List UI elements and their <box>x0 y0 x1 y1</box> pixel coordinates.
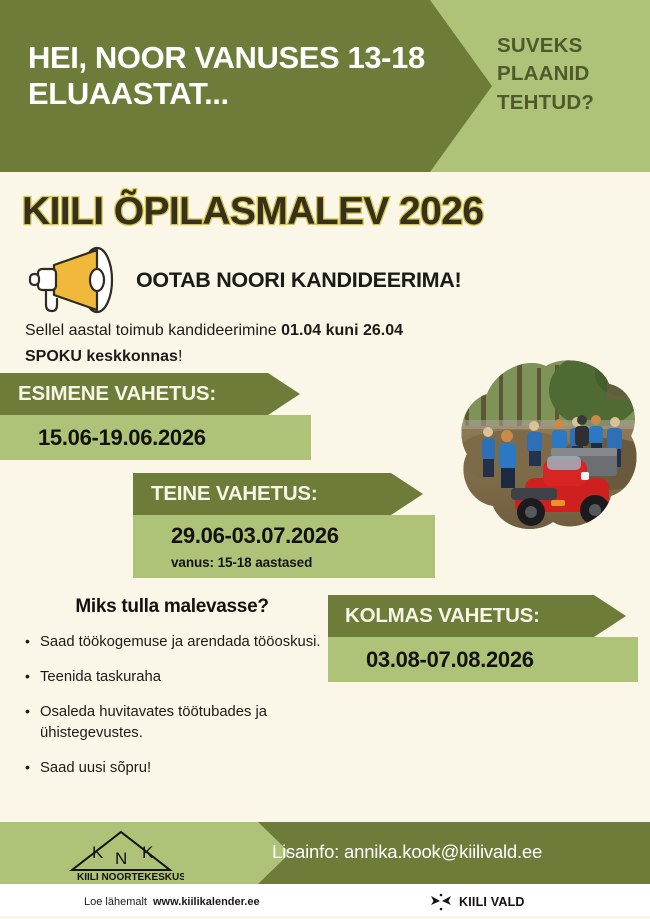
benefits-section: Miks tulla malevasse? Saad töökogemuse j… <box>22 596 322 793</box>
shift-dates-2: 29.06-03.07.2026 <box>171 523 435 549</box>
list-item: Teenida taskuraha <box>22 667 322 688</box>
shift-dates-box-2: 29.06-03.07.2026 vanus: 15-18 aastased <box>133 515 435 578</box>
read-more-url[interactable]: www.kiilikalender.ee <box>153 896 260 908</box>
shift-block-2: TEINE VAHETUS: 29.06-03.07.2026 vanus: 1… <box>133 473 443 578</box>
knk-logo: K N K KIILI NOORTEKESKUS <box>58 826 184 882</box>
header-headline: HEI, NOOR VANUSES 13-18 ELUAASTAT... <box>28 40 428 113</box>
poster-root: HEI, NOOR VANUSES 13-18 ELUAASTAT... SUV… <box>0 0 650 919</box>
shift-label-2: TEINE VAHETUS: <box>133 473 423 515</box>
shift-age-note-2: vanus: 15-18 aastased <box>171 555 435 570</box>
megaphone-row: OOTAB NOORI KANDIDEERIMA! <box>24 243 461 317</box>
read-more-line: Loe lähemaltwww.kiilikalender.ee <box>84 896 260 908</box>
header-banner: HEI, NOOR VANUSES 13-18 ELUAASTAT... SUV… <box>0 0 650 172</box>
page-title: KIILI ÕPILASMALEV 2026 <box>22 190 642 234</box>
benefits-list: Saad töökogemuse ja arendada tööoskusi. … <box>22 632 322 779</box>
title-block: KIILI ÕPILASMALEV 2026 <box>22 190 642 234</box>
kiili-vald-logo: KIILI VALD <box>430 893 525 911</box>
shift-dates-box-1: 15.06-19.06.2026 <box>0 415 311 460</box>
intro-paragraph: Sellel aastal toimub kandideerimine 01.0… <box>25 318 445 370</box>
shift-dates-box-3: 03.08-07.08.2026 <box>328 637 638 682</box>
kiili-vald-mark-icon <box>430 893 452 911</box>
megaphone-caption: OOTAB NOORI KANDIDEERIMA! <box>136 268 461 293</box>
shift-dates-1: 15.06-19.06.2026 <box>38 425 311 451</box>
intro-suffix: ! <box>178 348 182 365</box>
photo-blob <box>455 360 637 532</box>
header-subheadline: SUVEKS PLAANID TEHTUD? <box>497 32 642 117</box>
intro-prefix: Sellel aastal toimub kandideerimine <box>25 322 281 339</box>
kiili-vald-text: KIILI VALD <box>459 895 525 909</box>
bottom-bar: Loe lähemaltwww.kiilikalender.ee KIILI V… <box>0 884 650 919</box>
shift-dates-3: 03.08-07.08.2026 <box>366 647 638 673</box>
svg-text:K: K <box>142 843 154 862</box>
megaphone-icon <box>24 243 128 317</box>
shift-label-3: KOLMAS VAHETUS: <box>328 595 626 637</box>
svg-text:N: N <box>115 849 127 868</box>
svg-text:K: K <box>92 843 104 862</box>
shift-block-1: ESIMENE VAHETUS: 15.06-19.06.2026 <box>0 373 320 460</box>
list-item: Saad uusi sõpru! <box>22 758 322 779</box>
contact-info[interactable]: Lisainfo: annika.kook@kiilivald.ee <box>272 841 542 863</box>
benefits-title: Miks tulla malevasse? <box>22 596 322 618</box>
list-item: Osaleda huvitavates töötubades ja ühiste… <box>22 702 322 744</box>
shift-label-1: ESIMENE VAHETUS: <box>0 373 300 415</box>
intro-dates: 01.04 kuni 26.04 <box>281 322 403 339</box>
read-more-prefix: Loe lähemalt <box>84 896 147 908</box>
knk-name-text: KIILI NOORTEKESKUS <box>77 872 184 882</box>
shift-block-3: KOLMAS VAHETUS: 03.08-07.08.2026 <box>328 595 646 682</box>
intro-platform: SPOKU keskkonnas <box>25 348 178 365</box>
list-item: Saad töökogemuse ja arendada tööoskusi. <box>22 632 322 653</box>
